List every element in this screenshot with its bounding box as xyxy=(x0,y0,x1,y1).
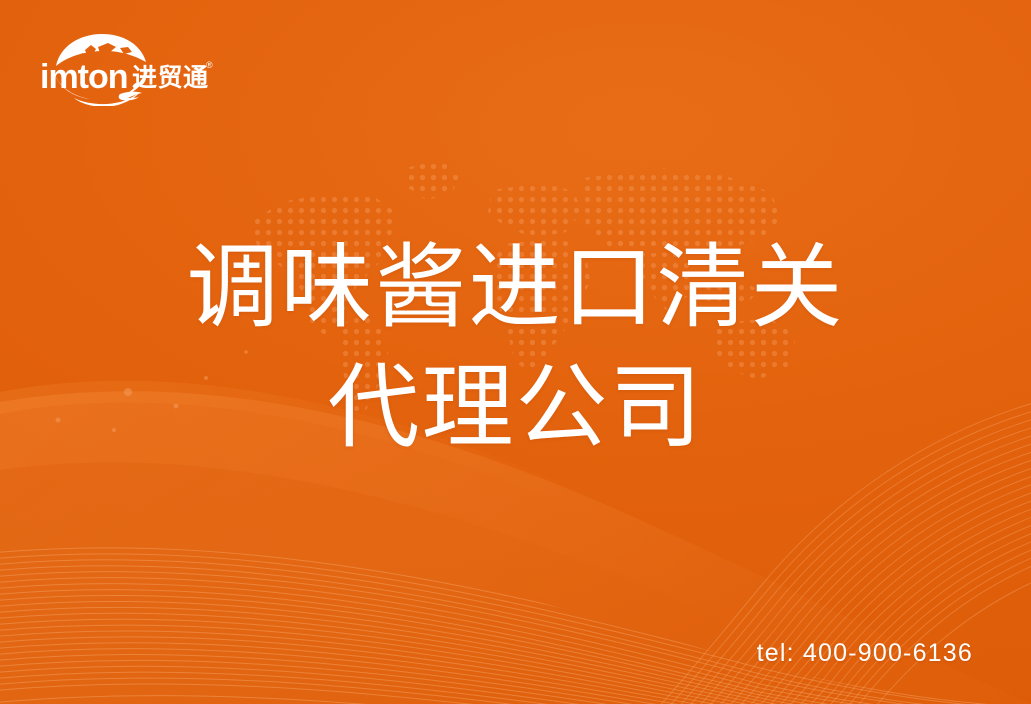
contact-phone[interactable]: tel: 400-900-6136 xyxy=(757,639,973,668)
registered-trademark-icon: ® xyxy=(206,60,213,70)
headline-line-2: 代理公司 xyxy=(0,348,1031,468)
headline: 调味酱进口清关 代理公司 xyxy=(0,228,1031,468)
logo-wordmark: imton xyxy=(40,58,128,96)
headline-line-1: 调味酱进口清关 xyxy=(0,228,1031,348)
brand-logo[interactable]: imton 进贸通 ® xyxy=(36,28,214,106)
promo-banner: imton 进贸通 ® 调味酱进口清关 代理公司 tel: 400-900-61… xyxy=(0,0,1031,704)
logo-chinese-name: 进贸通 xyxy=(132,63,209,92)
